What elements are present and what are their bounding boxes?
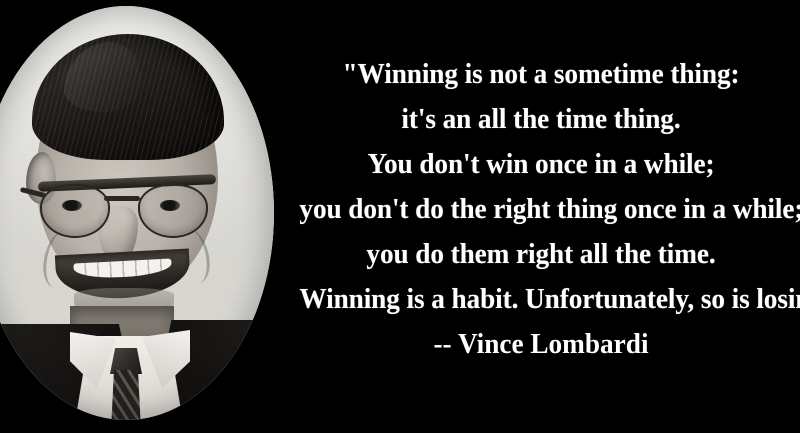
necktie-body [111, 370, 141, 420]
quote-line-3: You don't win once in a while; [299, 142, 782, 187]
quote-text-block: "Winning is not a sometime thing: it's a… [284, 52, 798, 367]
quote-image-canvas: "Winning is not a sometime thing: it's a… [0, 0, 800, 433]
right-eye [160, 200, 180, 211]
teeth [73, 258, 172, 279]
quote-line-1: "Winning is not a sometime thing: [299, 52, 782, 97]
portrait-oval-photo [0, 6, 274, 420]
left-eye [62, 200, 82, 211]
quote-line-5: you do them right all the time. [299, 232, 782, 277]
glasses-bridge [104, 196, 140, 201]
portrait-area [0, 0, 290, 433]
quote-attribution: -- Vince Lombardi [299, 322, 782, 367]
quote-line-4: you don't do the right thing once in a w… [299, 187, 782, 232]
quote-line-2: it's an all the time thing. [299, 97, 782, 142]
quote-line-6: Winning is a habit. Unfortunately, so is… [299, 277, 782, 322]
